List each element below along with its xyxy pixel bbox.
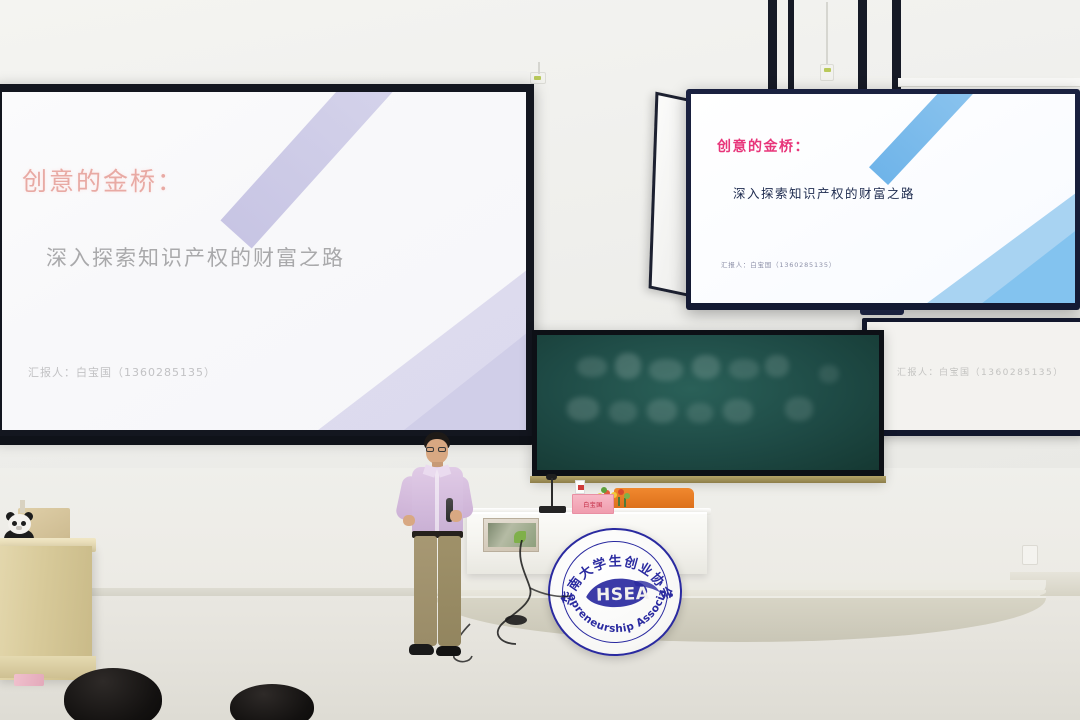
name-card-label: 白宝国 xyxy=(583,500,603,509)
slide-accent-triangle-tv-inner xyxy=(941,211,1075,303)
presenter-shoe-left xyxy=(409,644,434,655)
slide-title: 创意的金桥： xyxy=(22,162,184,198)
ceiling-plate xyxy=(898,78,1080,87)
chalk-smudge xyxy=(609,401,637,423)
tv-monitor-far-right[interactable]: 汇报人：白宝国（1360285135） xyxy=(862,318,1080,436)
slide-presenter-line-tv: 汇报人：白宝国（1360285135） xyxy=(721,259,836,269)
chalk-smudge xyxy=(785,397,813,421)
slide-presenter-line: 汇报人：白宝国（1360285135） xyxy=(28,364,216,380)
tv-monitor-right[interactable]: 创意的金桥： 深入探索知识产权的财富之路 汇报人：白宝国（1360285135） xyxy=(686,89,1080,310)
status-led-icon xyxy=(824,68,831,72)
chalk-smudge xyxy=(567,397,599,421)
chalk-smudge xyxy=(647,399,677,423)
presenter-shirt-placket xyxy=(435,469,439,531)
chalk-smudge xyxy=(687,403,713,423)
flower-icon xyxy=(624,493,630,499)
presenter-right-hand xyxy=(450,510,462,522)
chalk-smudge xyxy=(819,365,839,383)
projection-screen-left[interactable]: 创意的金桥： 深入探索知识产权的财富之路 汇报人：白宝国（1360285135） xyxy=(0,84,534,438)
ceiling-hanging-wire xyxy=(826,2,828,66)
ceiling-rail-1 xyxy=(768,0,777,98)
presenter-shoe-right xyxy=(436,646,461,656)
microphone-base xyxy=(539,506,566,513)
name-card: 白宝国 xyxy=(572,494,614,514)
presenter-trousers xyxy=(413,536,462,646)
eyeglasses-icon xyxy=(426,447,448,452)
slide-subtitle-tv: 深入探索知识产权的财富之路 xyxy=(733,183,915,202)
chalk-smudge xyxy=(577,357,607,377)
slide-accent-triangle-inner xyxy=(366,310,526,430)
status-led-icon-2 xyxy=(534,76,541,80)
chalk-smudge xyxy=(692,355,720,379)
blackboard-surface xyxy=(537,335,879,470)
tv-monitor-right-mount xyxy=(860,310,904,315)
chalk-smudge xyxy=(615,353,641,379)
blackboard xyxy=(532,330,884,480)
screen-drop-wire xyxy=(538,62,540,74)
chalk-smudge xyxy=(649,359,683,381)
panda-muzzle xyxy=(16,526,22,530)
chalk-smudge xyxy=(765,355,789,377)
flower-icon xyxy=(601,487,607,493)
tv-monitor-right-screen: 创意的金桥： 深入探索知识产权的财富之路 汇报人：白宝国（1360285135） xyxy=(691,94,1075,303)
ceiling-sensor-box xyxy=(820,64,834,81)
slide-accent-stripe xyxy=(220,92,405,249)
presenter-left-hand xyxy=(403,515,415,526)
chalk-smudge xyxy=(729,359,759,379)
wall-power-outlet[interactable] xyxy=(1022,545,1038,565)
ceiling-rail-3 xyxy=(858,0,867,100)
ceiling-rail-2 xyxy=(788,0,794,96)
lecture-hall-scene: 创意的金桥： 深入探索知识产权的财富之路 汇报人：白宝国（1360285135）… xyxy=(0,0,1080,720)
panda-eye-right xyxy=(21,521,26,526)
chalk-smudge xyxy=(723,399,753,423)
presenter xyxy=(384,432,488,680)
small-standing-card xyxy=(575,480,585,494)
card-mark-icon xyxy=(578,485,584,490)
slide-subtitle: 深入探索知识产权的财富之路 xyxy=(46,242,345,272)
projection-screen-surface: 创意的金桥： 深入探索知识产权的财富之路 汇报人：白宝国（1360285135） xyxy=(2,92,526,430)
pink-object xyxy=(14,674,44,686)
tv-monitor-far-right-screen: 汇报人：白宝国（1360285135） xyxy=(867,322,1080,430)
slide-title-tv: 创意的金桥： xyxy=(717,136,810,156)
slide-presenter-line-far: 汇报人：白宝国（1360285135） xyxy=(897,365,1064,378)
flower-icon xyxy=(618,489,624,495)
